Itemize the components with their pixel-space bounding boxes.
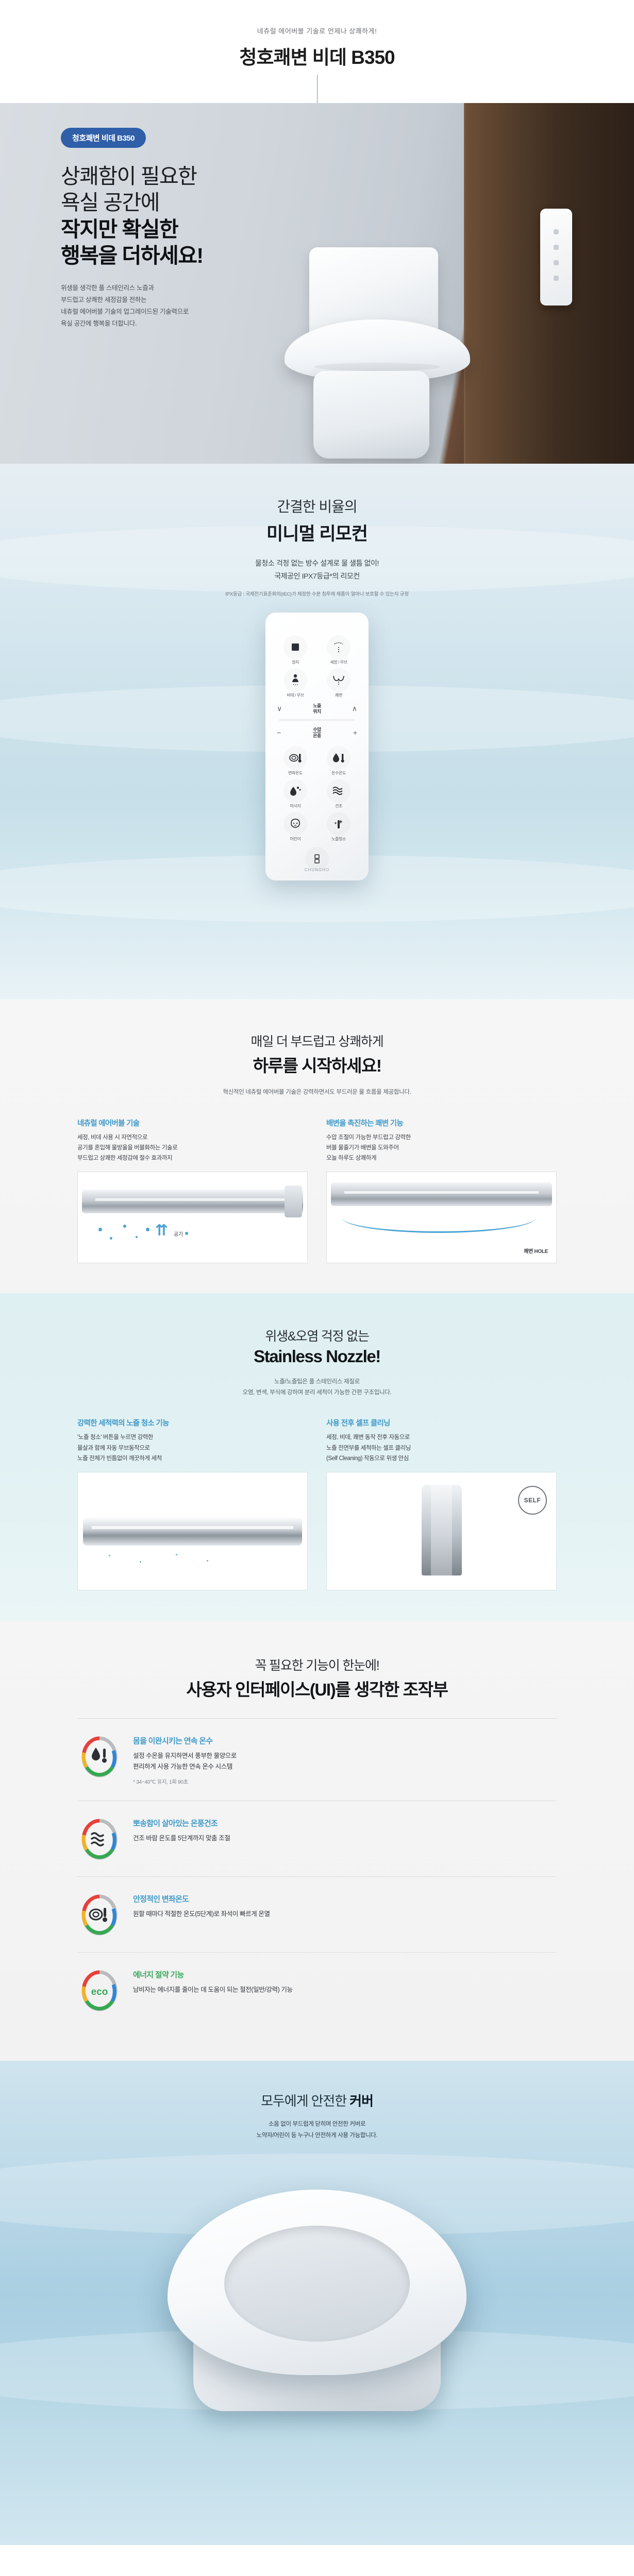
cover-heading-light: 모두에게 안전한 [261, 2093, 349, 2109]
feature-seat-temp-body: 원할 때마다 적절한 온도(5단계)로 좌석이 빠르게 온열 [133, 1909, 270, 1920]
stainless-col1-title: 강력한 세척력의 노즐 청소 기능 [77, 1417, 308, 1428]
stainless-sub-2: 오염, 변색, 부식에 강하며 분리 세척이 가능한 간편 구조입니다. [0, 1387, 634, 1398]
feature-dry-text: 뽀송함이 살아있는 온풍건조 건조 바람 온도를 5단계까지 맞춤 조절 [133, 1818, 230, 1844]
nozzle-tip-graphic [285, 1185, 302, 1217]
cover-hole-graphic [224, 2226, 410, 2342]
stainless-col2-body: 세정, 비데, 쾌변 동작 전후 자동으로 노즐 전면부를 세척하는 셀프 클리… [326, 1432, 557, 1463]
remote-brand-logo: CHUNGHO [265, 868, 369, 872]
remote-button-water-temp[interactable]: 온수온도 [317, 746, 360, 776]
feature-seat-temp-text: 안정적인 변좌온도 원할 때마다 적절한 온도(5단계)로 좌석이 빠르게 온열 [133, 1893, 270, 1920]
feature-row-dry: 뽀송함이 살아있는 온풍건조 건조 바람 온도를 5단계까지 맞춤 조절 [77, 1801, 557, 1877]
remote-button-massage[interactable]: 마사지 [274, 779, 317, 809]
pressure-airflow-row[interactable]: − 수압 온풍 + [274, 722, 360, 742]
massage-icon [283, 779, 307, 803]
hero-line-1: 상쾌함이 필요한 [61, 164, 196, 188]
hero-desc-1: 위생을 생각한 풀 스테인리스 노즐과 [61, 282, 303, 294]
pressure-label: 수압 [313, 727, 321, 732]
top-eyebrow: 네츄럴 에어버블 기술로 언제나 상쾌하게! [0, 26, 634, 36]
self-badge: SELF [518, 1486, 547, 1515]
bubble-2 [110, 1237, 112, 1240]
remote-button-power[interactable] [274, 847, 360, 871]
air-columns: 네츄럴 에어버블 기술 세정, 비데 사용 시 자연적으로 공기를 혼입해 물방… [0, 1117, 634, 1263]
remote-button-seat-temp[interactable]: 변좌온도 [274, 746, 317, 776]
hero-desc-2: 부드럽고 상쾌한 세정감을 전하는 [61, 294, 303, 306]
remote-button-child-label: 어린이 [274, 836, 317, 842]
remote-button-dry[interactable]: 건조 [317, 779, 360, 809]
toilet-base [313, 371, 429, 459]
remote-dot-3 [554, 260, 559, 265]
wash-move-icon [327, 635, 351, 659]
stainless-columns: 강력한 세척력의 노즐 청소 기능 '노즐 청소' 버튼을 누르면 강력한 물살… [0, 1417, 634, 1590]
hero-line-2: 욕실 공간에 [61, 191, 159, 214]
remote-dot-2 [554, 245, 559, 250]
water-temp-ring-icon [80, 1735, 119, 1778]
pressure-airflow-label: 수압 온풍 [313, 727, 321, 739]
plus-icon[interactable]: + [353, 728, 357, 737]
hero-headline: 상쾌함이 필요한 욕실 공간에 작지만 확실한 행복을 더하세요! [61, 163, 303, 269]
nozzle-position-row[interactable]: ∨ 노즐위치 ∧ [274, 698, 360, 717]
hero-desc-4: 욕실 공간에 행복을 더합니다. [61, 318, 303, 330]
air-col1-body: 세정, 비데 사용 시 자연적으로 공기를 혼입해 물방울을 버블화하는 기술로… [77, 1132, 308, 1163]
cover-heading-bold: 커버 [349, 2093, 373, 2109]
hero-desc-3: 네츄럴 에어버블 기술의 업그레이드된 기술력으로 [61, 306, 303, 318]
chevron-up-icon[interactable]: ∧ [352, 704, 357, 713]
bubble-4 [136, 1236, 138, 1238]
remote-section: 간결한 비율의 미니멀 리모컨 물청소 걱정 없는 방수 설계로 물 샐틈 없이… [0, 464, 634, 999]
spray-dot-3 [176, 1554, 177, 1555]
hero-copy: 청호쾌변 비데 B350 상쾌함이 필요한 욕실 공간에 작지만 확실한 행복을… [61, 128, 303, 330]
cover-section: 모두에게 안전한 커버 소음 없이 부드럽게 닫히며 안전한 커버로 노약자/어… [0, 2061, 634, 2545]
remote-button-wash-label: 세정 / 무브 [317, 659, 360, 665]
stainless-heading-light: 위생&오염 걱정 없는 [0, 1326, 634, 1345]
remote-subtext: 물청소 걱정 없는 방수 설계로 물 샐틈 없이! 국제공인 IPX7등급*의 … [0, 557, 634, 583]
comfort-hole-curve [342, 1203, 536, 1233]
stainless-section: 위생&오염 걱정 없는 Stainless Nozzle! 노즐/노즐팁은 풀 … [0, 1293, 634, 1621]
hero-line-4: 행복을 더하세요! [61, 243, 303, 269]
stainless-col1-figure [77, 1472, 308, 1590]
remote-control[interactable]: 정지 세정 / 무브 [265, 613, 369, 880]
stainless-heading-bold: Stainless Nozzle! [0, 1347, 634, 1366]
remote-heading: 간결한 비율의 미니멀 리모컨 [0, 464, 634, 546]
cover-heading: 모두에게 안전한 커버 [0, 2061, 634, 2110]
remote-button-stop-label: 정지 [274, 659, 317, 665]
feature-eco-body: 남비자는 에너지를 줄이는 데 도움이 되는 절전(일반/강력) 기능 [133, 1985, 293, 1995]
eco-ring-icon: eco [80, 1969, 119, 2012]
air-col1-figure: ⇈ 공기 [77, 1172, 308, 1263]
nozzle-clean-icon [327, 812, 351, 836]
feature-eco-title: 에너지 절약 기능 [133, 1969, 293, 1980]
dry-icon [327, 779, 351, 803]
feature-water-temp-title: 몸을 이완시키는 연속 온수 [133, 1735, 237, 1746]
remote-button-seat-temp-label: 변좌온도 [274, 770, 317, 776]
remote-button-dry-label: 건조 [317, 803, 360, 809]
feature-dry-title: 뽀송함이 살아있는 온풍건조 [133, 1818, 230, 1828]
bubble-6 [185, 1232, 188, 1235]
air-heading-light: 매일 더 부드럽고 상쾌하게 [0, 1031, 634, 1050]
remote-bottom-grid: 변좌온도 온수온도 [274, 746, 360, 842]
air-col2-figure: 쾌변 HOLE [326, 1172, 557, 1263]
stainless-column-2: 사용 전후 셀프 클리닝 세정, 비데, 쾌변 동작 전후 자동으로 노즐 전면… [326, 1417, 557, 1590]
bubble-3 [123, 1225, 126, 1228]
air-column-1: 네츄럴 에어버블 기술 세정, 비데 사용 시 자연적으로 공기를 혼입해 물방… [77, 1117, 308, 1263]
chevron-down-icon[interactable]: ∨ [277, 704, 282, 713]
spray-dot-4 [207, 1560, 208, 1562]
stainless-subtext: 노즐/노즐팁은 풀 스테인리스 재질로 오염, 변색, 부식에 강하며 분리 세… [0, 1377, 634, 1398]
svg-text:eco: eco [91, 1987, 108, 1997]
top-title-section: 네츄럴 에어버블 기술로 언제나 상쾌하게! 청호쾌변 비데 B350 [0, 0, 634, 103]
remote-heading-bold: 미니멀 리모컨 [0, 519, 634, 546]
stainless-col2-figure: SELF [326, 1472, 557, 1590]
airflow-label: 온풍 [313, 732, 321, 738]
hero-line-3: 작지만 확실한 [61, 216, 303, 243]
ui-heading-light: 꼭 필요한 기능이 한눈에! [0, 1655, 634, 1674]
product-detail-page: 네츄럴 에어버블 기술로 언제나 상쾌하게! 청호쾌변 비데 B350 청호쾌변… [0, 0, 634, 2576]
air-subtext: 혁신적인 네츄럴 에어버블 기술은 강력하면서도 부드러운 물 흐름을 제공합니… [0, 1087, 634, 1098]
nozzle-bar-graphic [82, 1190, 303, 1213]
remote-dot-1 [554, 229, 559, 234]
air-arrow-icon: ⇈ [155, 1222, 168, 1240]
remote-button-water-temp-label: 온수온도 [317, 770, 360, 776]
ui-features-section: 꼭 필요한 기능이 한눈에! 사용자 인터페이스(UI)를 생각한 조작부 몸을… [0, 1621, 634, 2061]
air-col2-body: 수압 조절이 가능한 부드럽고 강력한 버블 물줄기가 배변을 도와주어 오늘 … [326, 1132, 557, 1163]
water-temp-icon [327, 746, 351, 770]
remote-button-wash[interactable]: 세정 / 무브 [317, 635, 360, 665]
remote-button-nozzle-clean[interactable]: 노즐청소 [317, 812, 360, 842]
ui-heading-bold: 사용자 인터페이스(UI)를 생각한 조작부 [0, 1676, 634, 1701]
spray-dot-2 [140, 1561, 141, 1563]
remote-button-comfort-label: 쾌변 [317, 692, 360, 698]
bidet-move-icon [283, 668, 307, 692]
air-figure-label: 공기 [174, 1230, 183, 1238]
remote-button-bidet[interactable]: 비데 / 무브 [274, 668, 317, 698]
remote-button-nozzle-clean-label: 노즐청소 [317, 836, 360, 842]
hero-description: 위생을 생각한 풀 스테인리스 노즐과 부드럽고 상쾌한 세정감을 전하는 네츄… [61, 282, 303, 330]
remote-separator [279, 719, 355, 721]
remote-button-massage-label: 마사지 [274, 803, 317, 809]
bubble-1 [98, 1228, 102, 1231]
comfort-icon [327, 668, 351, 692]
feature-water-temp-body: 설정 수온을 유지하면서 풍부한 물양으로 편리하게 사용 가능한 연속 온수 … [133, 1751, 237, 1773]
nozzle-position-label: 노즐위치 [313, 703, 321, 714]
stop-icon [283, 635, 307, 659]
air-heading-bold: 하루를 시작하세요! [0, 1052, 634, 1077]
self-cleaning-nozzle-graphic [422, 1485, 462, 1575]
bubble-5 [146, 1228, 149, 1231]
feature-row-seat-temp: 안정적인 변좌온도 원할 때마다 적절한 온도(5단계)로 좌석이 빠르게 온열 [77, 1877, 557, 1953]
remote-sub-1: 물청소 걱정 없는 방수 설계로 물 샐틈 없이! [0, 557, 634, 570]
remote-button-comfort[interactable]: 쾌변 [317, 668, 360, 698]
remote-top-grid: 정지 세정 / 무브 [274, 635, 360, 698]
power-icon [305, 847, 329, 871]
remote-button-bidet-label: 비데 / 무브 [274, 692, 317, 698]
remote-button-child[interactable]: 어린이 [274, 812, 317, 842]
page-title: 청호쾌변 비데 B350 [0, 42, 634, 70]
remote-dot-4 [554, 276, 559, 281]
seat-temp-icon [283, 746, 307, 770]
stainless-col1-body: '노즐 청소' 버튼을 누르면 강력한 물살과 함께 자동 무브동작으로 노즐 … [77, 1432, 308, 1463]
feature-water-temp-note: * 34~40℃ 유지, 1회 90초 [133, 1777, 237, 1785]
air-col2-title: 배변을 촉진하는 쾌변 기능 [326, 1117, 557, 1128]
spray-dot-1 [109, 1555, 110, 1556]
stainless-sub-1: 노즐/노즐팁은 풀 스테인리스 재질로 [0, 1377, 634, 1387]
cover-subtext: 소음 없이 부드럽게 닫히며 안전한 커버로 노약자/어린이 등 누구나 안전하… [0, 2119, 634, 2141]
air-col1-title: 네츄럴 에어버블 기술 [77, 1117, 308, 1128]
child-icon [283, 812, 307, 836]
stainless-nozzle-graphic [83, 1518, 302, 1546]
feature-eco-text: 에너지 절약 기능 남비자는 에너지를 줄이는 데 도움이 되는 절전(일반/강… [133, 1969, 293, 1995]
wall-mounted-remote [540, 209, 572, 306]
hero-section: 청호쾌변 비데 B350 상쾌함이 필요한 욕실 공간에 작지만 확실한 행복을… [0, 103, 634, 464]
remote-button-stop[interactable]: 정지 [274, 635, 317, 665]
product-badge: 청호쾌변 비데 B350 [61, 128, 146, 148]
comfort-hole-label: 쾌변 HOLE [524, 1247, 548, 1255]
dry-ring-icon [80, 1818, 119, 1861]
airbubble-section: 매일 더 부드럽고 상쾌하게 하루를 시작하세요! 혁신적인 네츄럴 에어버블 … [0, 999, 634, 1293]
stainless-col2-title: 사용 전후 셀프 클리닝 [326, 1417, 557, 1428]
minus-icon[interactable]: − [277, 728, 281, 737]
stainless-column-1: 강력한 세척력의 노즐 청소 기능 '노즐 청소' 버튼을 누르면 강력한 물살… [77, 1417, 308, 1590]
seat-temp-ring-icon [80, 1893, 119, 1937]
feature-water-temp-text: 몸을 이완시키는 연속 온수 설정 수온을 유지하면서 풍부한 물양으로 편리하… [133, 1735, 237, 1786]
cover-product-image [137, 2159, 497, 2427]
feature-row-water-temp: 몸을 이완시키는 연속 온수 설정 수온을 유지하면서 풍부한 물양으로 편리하… [77, 1719, 557, 1802]
remote-sub-2: 국제공인 IPX7등급*의 리모컨 [0, 570, 634, 583]
feature-seat-temp-title: 안정적인 변좌온도 [133, 1893, 270, 1904]
feature-dry-body: 건조 바람 온도를 5단계까지 맞춤 조절 [133, 1833, 230, 1844]
feature-row-eco: eco 에너지 절약 기능 남비자는 에너지를 줄이는 데 도움이 되는 절전(… [77, 1953, 557, 2028]
remote-footnote: IPX등급 : 국제전기표준회의(IEC)가 제정한 수분 침투에 제품이 얼마… [0, 590, 634, 597]
remote-heading-light: 간결한 비율의 [277, 499, 357, 515]
compact-slim-section: COMPACT&SLIM 높이 125mm의 컴팩트하고 슬림함이 디자인으로 … [0, 2545, 634, 2576]
air-column-2: 배변을 촉진하는 쾌변 기능 수압 조절이 가능한 부드럽고 강력한 버블 물줄… [326, 1117, 557, 1263]
